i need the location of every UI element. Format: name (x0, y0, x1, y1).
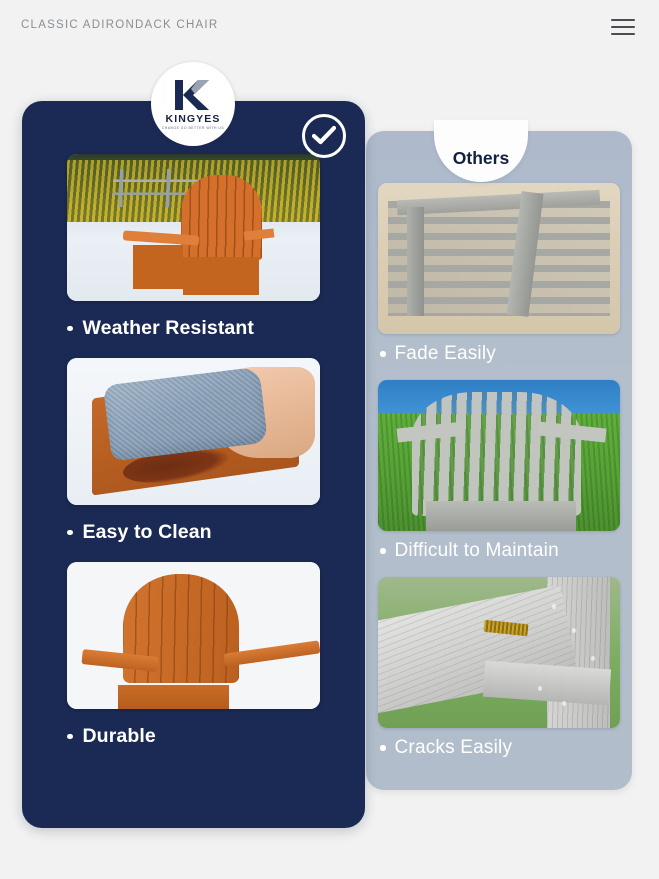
photo-layer (562, 701, 566, 706)
check-glyph (312, 125, 336, 147)
list-item: Difficult to Maintain (366, 380, 632, 562)
photo-layer (118, 685, 229, 709)
list-item: Cracks Easily (366, 577, 632, 759)
check-circle-icon[interactable] (302, 114, 346, 158)
bullet-dot-icon (380, 548, 386, 554)
page-header: CLASSIC ADIRONDACK CHAIR (0, 0, 659, 56)
brand-item-label: Easy to Clean (67, 521, 365, 544)
product-comparison-page: CLASSIC ADIRONDACK CHAIR Fade Easily (0, 0, 659, 879)
page-title: CLASSIC ADIRONDACK CHAIR (21, 19, 218, 31)
bullet-dot-icon (380, 745, 386, 751)
list-item: Weather Resistant (22, 154, 365, 340)
label-text: Cracks Easily (395, 737, 513, 759)
photo-layer (133, 245, 184, 289)
photo-layer (591, 656, 595, 661)
hamburger-line (611, 26, 635, 28)
others-item-label: Cracks Easily (380, 737, 632, 759)
brand-feature-list: Weather Resistant Easy to Clean (22, 154, 365, 766)
list-item: Durable (22, 562, 365, 748)
photo-fade-easily (378, 183, 620, 334)
photo-weather-resistant (67, 154, 320, 301)
label-text: Easy to Clean (83, 521, 212, 544)
photo-layer (426, 501, 576, 531)
photo-layer (572, 628, 576, 633)
brand-panel: Weather Resistant Easy to Clean (22, 101, 365, 828)
photo-cracks-easily (378, 577, 620, 728)
photo-layer (412, 392, 581, 516)
bullet-dot-icon (380, 351, 386, 357)
label-text: Durable (83, 725, 156, 748)
others-feature-list: Fade Easily Difficult to Maintain (366, 183, 632, 774)
photo-layer (181, 175, 262, 260)
brand-tagline: CHANGE GO BETTER WITH US (162, 126, 224, 130)
brand-wordmark: KINGYES (166, 113, 221, 125)
tab-others-label: Others (453, 148, 509, 169)
bullet-dot-icon (67, 734, 73, 740)
photo-layer (407, 207, 424, 316)
bullet-dot-icon (67, 530, 73, 536)
photo-easy-to-clean (67, 358, 320, 505)
label-text: Weather Resistant (83, 317, 254, 340)
list-item: Fade Easily (366, 183, 632, 365)
photo-difficult-to-maintain (378, 380, 620, 531)
hamburger-menu-icon[interactable] (611, 19, 635, 35)
others-item-label: Difficult to Maintain (380, 540, 632, 562)
photo-durable (67, 562, 320, 709)
bullet-dot-icon (67, 326, 73, 332)
label-text: Difficult to Maintain (395, 540, 559, 562)
label-text: Fade Easily (395, 343, 496, 365)
hamburger-line (611, 33, 635, 35)
photo-layer (538, 686, 542, 691)
others-item-label: Fade Easily (380, 343, 632, 365)
brand-item-label: Weather Resistant (67, 317, 365, 340)
kingyes-k-monogram-icon (171, 78, 215, 112)
brand-item-label: Durable (67, 725, 365, 748)
photo-layer (183, 257, 259, 295)
brand-logo: KINGYES CHANGE GO BETTER WITH US (151, 62, 235, 146)
others-panel: Fade Easily Difficult to Maintain (366, 131, 632, 790)
list-item: Easy to Clean (22, 358, 365, 544)
hamburger-line (611, 19, 635, 21)
